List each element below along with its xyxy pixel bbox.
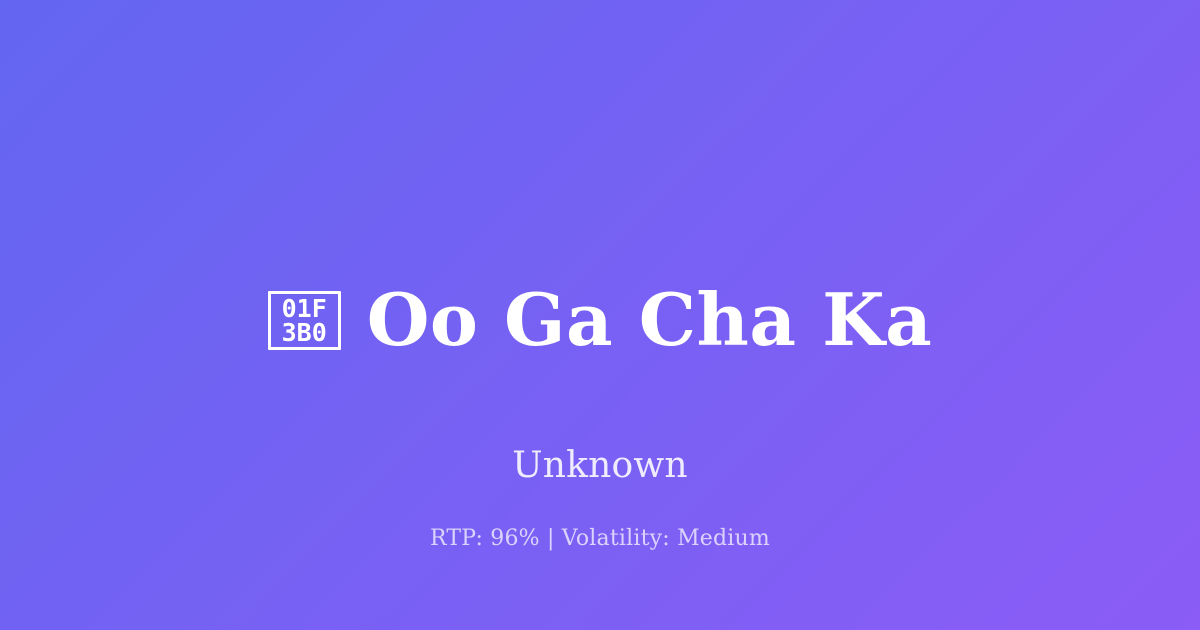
tofu-codepoint-lower: 3B0	[282, 321, 327, 345]
og-share-card: 01F 3B0 Oo Ga Cha Ka Unknown RTP: 96% | …	[0, 0, 1200, 630]
provider-subtitle: Unknown	[512, 448, 688, 484]
page-title: Oo Ga Cha Ka	[367, 284, 933, 356]
title-row: 01F 3B0 Oo Ga Cha Ka	[268, 236, 933, 404]
hero-block: 01F 3B0 Oo Ga Cha Ka Unknown	[0, 236, 1200, 484]
game-stats-line: RTP: 96% | Volatility: Medium	[0, 528, 1200, 550]
slot-machine-icon: 01F 3B0	[268, 291, 341, 350]
